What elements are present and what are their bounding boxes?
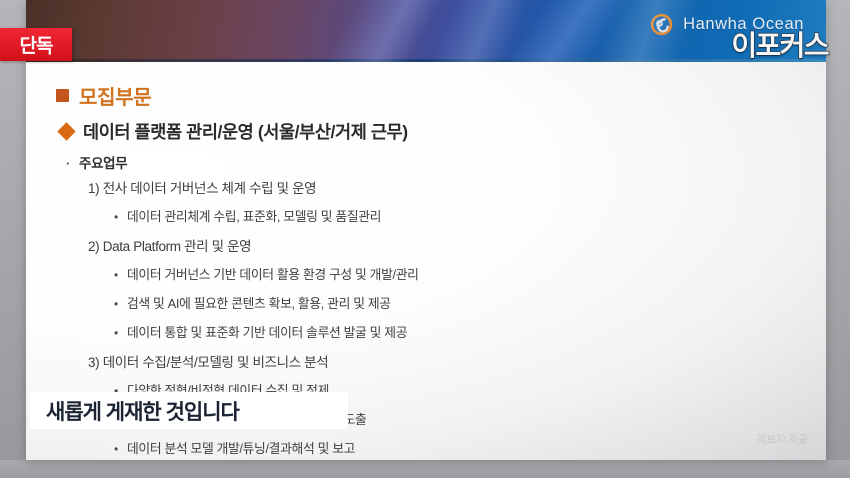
outline-bullet-icon: • <box>114 210 127 224</box>
outline-item-label: 3) 데이터 수집/분석/모델링 및 비즈니스 분석 <box>88 351 328 371</box>
section-heading-label: 모집부문 <box>79 81 151 110</box>
section-heading: 모집부문 <box>56 81 151 110</box>
square-bullet-icon <box>56 89 69 102</box>
left-gutter <box>0 0 26 478</box>
outline-item-label: 데이터 거버넌스 기반 데이터 활용 환경 구성 및 개발/관리 <box>127 264 419 283</box>
exclusive-badge: 단독 <box>0 28 72 61</box>
job-title-heading: 데이터 플랫폼 관리/운영 (서울/부산/거제 근무) <box>60 119 408 144</box>
outline-item-label: 1) 전사 데이터 거버넌스 체계 수립 및 운영 <box>88 177 316 197</box>
outline-item-label: 2) Data Platform 관리 및 운영 <box>88 235 251 255</box>
hanwha-circle-logo-icon <box>649 12 674 37</box>
presentation-slide: Hanwha Ocean 모집부문 데이터 플랫폼 관리/운영 (서울/부산/거… <box>26 0 826 460</box>
job-title-label: 데이터 플랫폼 관리/운영 (서울/부산/거제 근무) <box>83 119 408 144</box>
caption-text: 새롭게 게재한 것입니다 <box>46 396 239 426</box>
broadcast-screenshot: Hanwha Ocean 모집부문 데이터 플랫폼 관리/운영 (서울/부산/거… <box>0 0 850 478</box>
outline-item: ·주요업무 <box>66 152 786 177</box>
outline-bullet-icon: • <box>114 442 127 456</box>
outline-item: •검색 및 AI에 필요한 콘텐츠 확보, 활용, 관리 및 제공 <box>114 293 786 322</box>
outline-item-label: 데이터 관리체계 수립, 표준화, 모델링 및 품질관리 <box>127 206 381 225</box>
exclusive-badge-label: 단독 <box>20 31 53 58</box>
outline-bullet-icon: • <box>114 297 127 311</box>
right-gutter <box>826 0 850 478</box>
diamond-bullet-icon <box>57 122 75 140</box>
outline-bullet-icon: • <box>114 326 127 340</box>
outline-item: •데이터 거버넌스 기반 데이터 활용 환경 구성 및 개발/관리 <box>114 264 786 293</box>
outline-item-label: 검색 및 AI에 필요한 콘텐츠 확보, 활용, 관리 및 제공 <box>127 293 391 312</box>
broadcaster-watermark: 이포커스 <box>731 24 828 64</box>
outline-item-label: 주요업무 <box>79 152 127 172</box>
outline-item: 1) 전사 데이터 거버넌스 체계 수립 및 운영 <box>88 177 786 206</box>
bottom-gutter <box>0 460 850 478</box>
outline-item-label: 데이터 분석 모델 개발/튜닝/결과해석 및 보고 <box>127 438 355 457</box>
outline-item-label: 데이터 통합 및 표준화 기반 데이터 솔루션 발굴 및 제공 <box>127 322 407 341</box>
photo-credit: 제보자 제공 <box>757 430 808 446</box>
lower-third-caption: 새롭게 게재한 것입니다 <box>30 392 348 429</box>
outline-item: 2) Data Platform 관리 및 운영 <box>88 235 786 264</box>
outline-item: •데이터 통합 및 표준화 기반 데이터 솔루션 발굴 및 제공 <box>114 322 786 351</box>
outline-bullet-icon: · <box>66 156 79 171</box>
slide-header-banner: Hanwha Ocean <box>26 0 826 62</box>
outline-item: 3) 데이터 수집/분석/모델링 및 비즈니스 분석 <box>88 351 786 380</box>
outline-item: •데이터 관리체계 수립, 표준화, 모델링 및 품질관리 <box>114 206 786 235</box>
outline-bullet-icon: • <box>114 268 127 282</box>
outline-item: •데이터 분석 모델 개발/튜닝/결과해석 및 보고 <box>114 438 786 460</box>
